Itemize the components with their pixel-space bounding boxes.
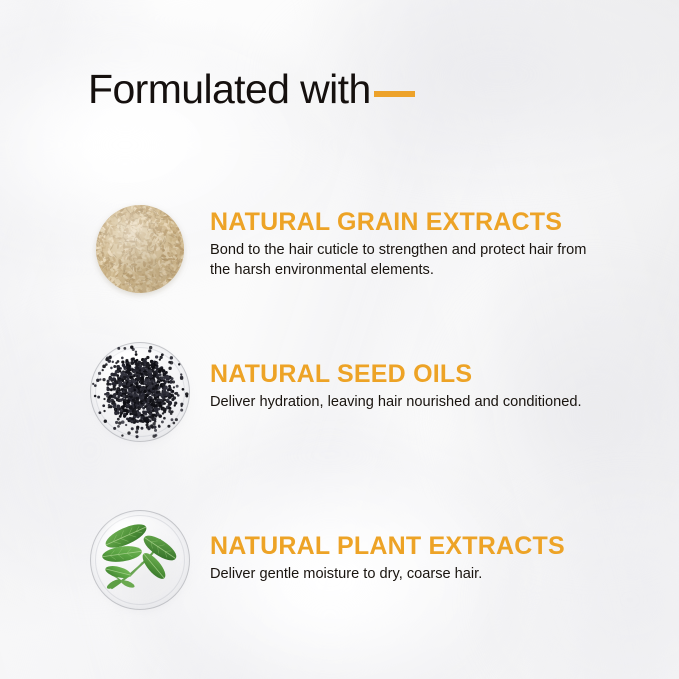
grain-pile-image [88,196,192,300]
black-seeds-dish-image [88,338,192,442]
page-title: Formulated with [88,66,371,112]
feature-description: Deliver hydration, leaving hair nourishe… [210,392,582,412]
black-seed-pile [101,352,179,430]
green-leaves-dish-image [88,506,192,610]
leaf-sprig [88,506,192,610]
accent-dash-icon [374,91,415,97]
feature-row-grain-extracts: NATURAL GRAIN EXTRACTS Bond to the hair … [88,196,608,300]
page-header: Formulated with [88,66,415,112]
feature-description: Deliver gentle moisture to dry, coarse h… [210,564,565,584]
feature-text-plant-extracts: NATURAL PLANT EXTRACTS Deliver gentle mo… [210,506,565,584]
feature-text-seed-oils: NATURAL SEED OILS Deliver hydration, lea… [210,338,582,412]
feature-title: NATURAL GRAIN EXTRACTS [210,208,608,236]
feature-row-plant-extracts: NATURAL PLANT EXTRACTS Deliver gentle mo… [88,506,608,610]
grain-pile-circle [96,205,184,293]
feature-title: NATURAL SEED OILS [210,360,582,388]
feature-row-seed-oils: NATURAL SEED OILS Deliver hydration, lea… [88,338,608,442]
feature-description: Bond to the hair cuticle to strengthen a… [210,240,608,280]
feature-title: NATURAL PLANT EXTRACTS [210,532,565,560]
product-feature-panel: Formulated with NATU [0,0,679,679]
feature-text-grain-extracts: NATURAL GRAIN EXTRACTS Bond to the hair … [210,196,608,280]
